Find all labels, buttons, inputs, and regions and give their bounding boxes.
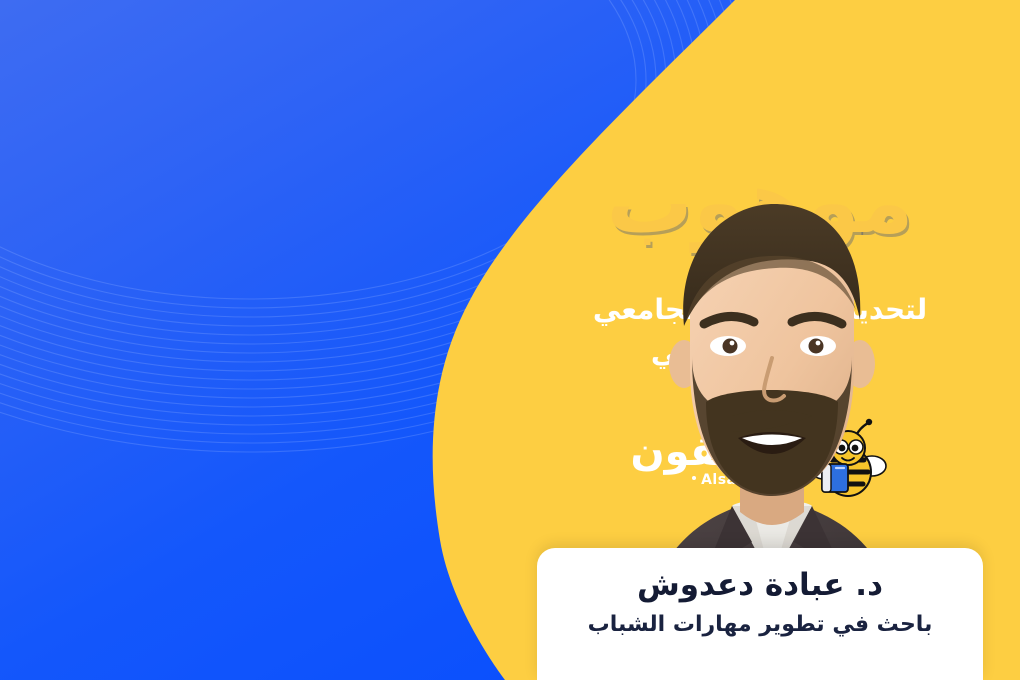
promo-poster: موهوب لتحديد التخصّص الجامعي والمسار الم… [0,0,1020,680]
speaker-name: د. عبادة دعدوش [537,566,983,605]
speaker-name-card: د. عبادة دعدوش باحث في تطوير مهارات الشب… [537,548,983,680]
speaker-role: باحث في تطوير مهارات الشباب [537,611,983,640]
